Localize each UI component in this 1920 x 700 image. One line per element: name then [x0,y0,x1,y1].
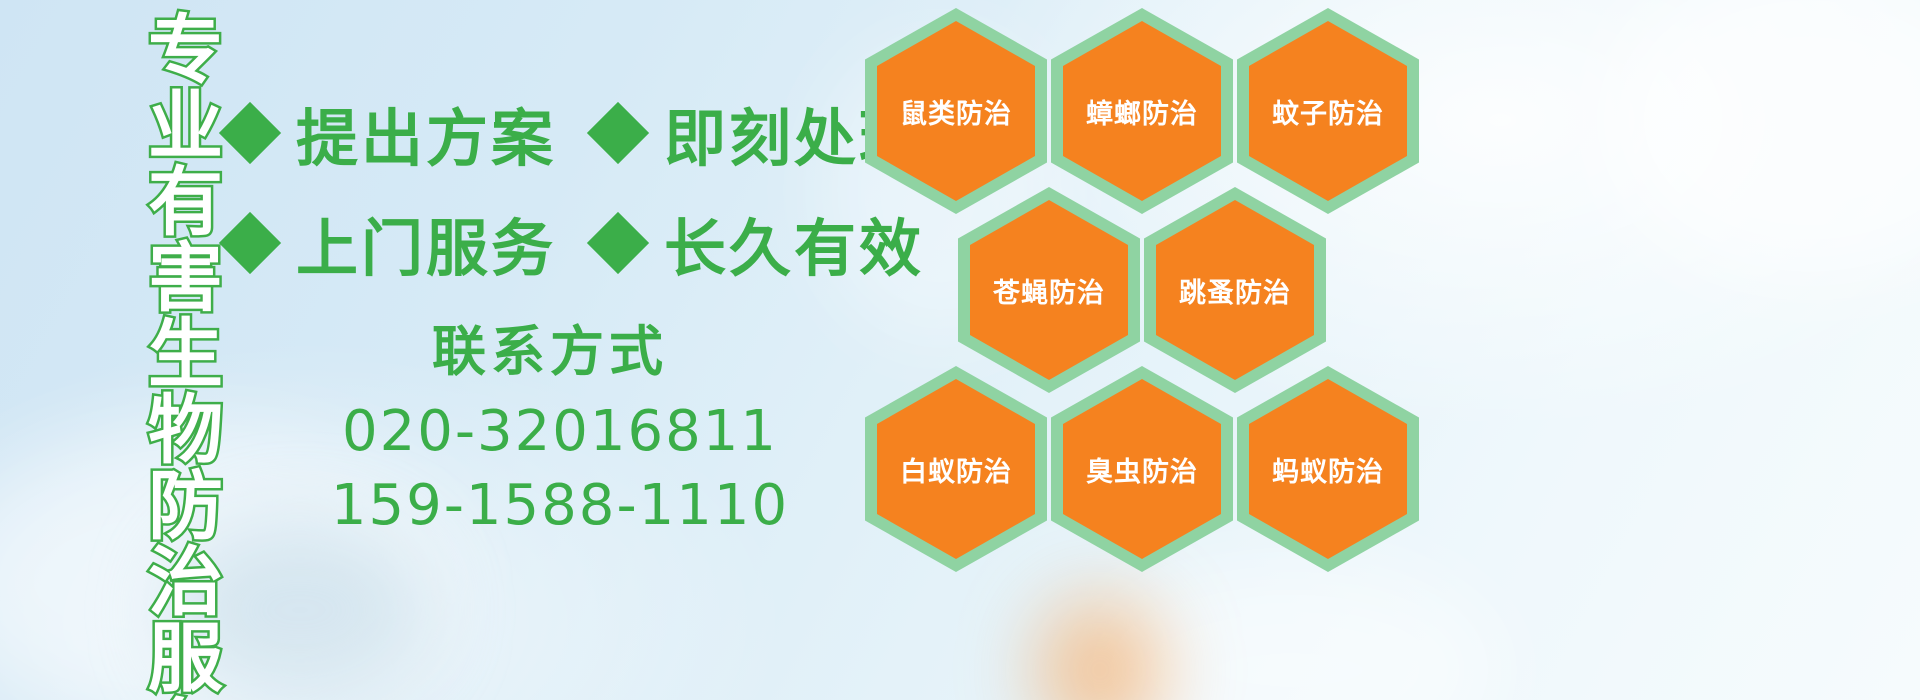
hexagon-inner: 白蚁防治 [877,379,1035,559]
feature-label: 上门服务 [296,198,556,288]
hexagon-inner: 苍蝇防治 [970,200,1128,380]
contact-block: 联系方式 020-32016811 159-1588-1110 [300,318,820,543]
hexagon-inner: 跳蚤防治 [1156,200,1314,380]
diamond-bullet-icon [219,212,281,274]
hexagon-inner: 鼠类防治 [877,21,1035,201]
service-label: 跳蚤防治 [1179,271,1291,310]
service-hexagon-rodent[interactable]: 鼠类防治 [865,8,1047,214]
feature-item-onsite-service: 上门服务 [228,198,556,288]
pest-control-banner: 专业有害生物防治服务 提出方案 即刻处理 上门服务 长久有效 联系方式 020-… [0,0,1920,700]
background-blob [1600,0,1920,280]
hexagon-inner: 蚊子防治 [1249,21,1407,201]
service-hexagon-mosquito[interactable]: 蚊子防治 [1237,8,1419,214]
service-label: 臭虫防治 [1086,450,1198,489]
hexagon-inner: 蚂蚁防治 [1249,379,1407,559]
feature-row-2: 上门服务 长久有效 [228,198,924,288]
service-label: 蚂蚁防治 [1272,450,1384,489]
feature-item-propose-plan: 提出方案 [228,88,556,178]
service-label: 鼠类防治 [900,92,1012,131]
feature-label: 提出方案 [296,88,556,178]
vertical-headline: 专业有害生物防治服务 [105,10,217,700]
background-blob [1040,600,1160,700]
service-hexagon-termite[interactable]: 白蚁防治 [865,366,1047,572]
diamond-bullet-icon [587,212,649,274]
hexagon-inner: 臭虫防治 [1063,379,1221,559]
service-hexagon-grid: 鼠类防治 蟑螂防治 蚊子防治 苍蝇防治 跳蚤防治 白蚁防治 [855,0,1475,560]
hexagon-inner: 蟑螂防治 [1063,21,1221,201]
service-label: 蟑螂防治 [1086,92,1198,131]
diamond-bullet-icon [219,102,281,164]
contact-heading: 联系方式 [280,318,820,386]
diamond-bullet-icon [587,102,649,164]
feature-row-1: 提出方案 即刻处理 [228,88,924,178]
service-hexagon-fly[interactable]: 苍蝇防治 [958,187,1140,393]
phone-mobile[interactable]: 159-1588-1110 [300,470,820,543]
service-label: 苍蝇防治 [993,271,1105,310]
service-label: 白蚁防治 [900,450,1012,489]
service-hexagon-ant[interactable]: 蚂蚁防治 [1237,366,1419,572]
service-label: 蚊子防治 [1272,92,1384,131]
service-hexagon-bedbug[interactable]: 臭虫防治 [1051,366,1233,572]
phone-landline[interactable]: 020-32016811 [300,396,820,469]
service-hexagon-cockroach[interactable]: 蟑螂防治 [1051,8,1233,214]
background-blob [1080,560,1500,700]
service-hexagon-flea[interactable]: 跳蚤防治 [1144,187,1326,393]
